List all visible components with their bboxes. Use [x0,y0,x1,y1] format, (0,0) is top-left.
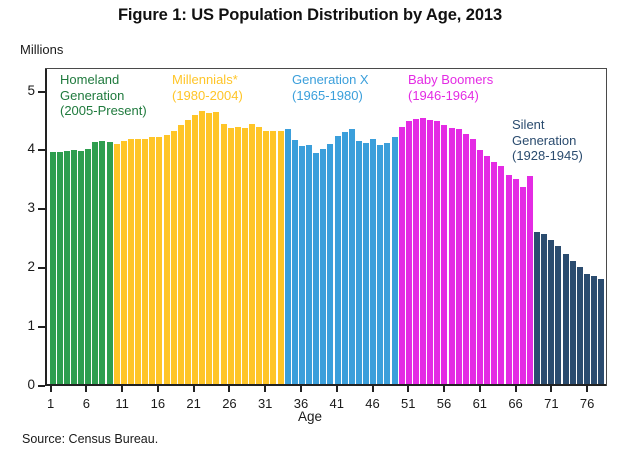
y-tick-label-2: 2 [11,259,35,274]
bar-age-65 [506,175,512,384]
bar-age-77 [591,276,597,384]
x-tick-76 [586,386,588,392]
bar-age-57 [449,128,455,384]
bar-age-68 [527,176,533,384]
x-axis-title: Age [0,409,620,424]
bar-age-51 [406,121,412,384]
bar-age-26 [228,128,234,384]
bar-age-32 [270,131,276,384]
bar-age-14 [142,139,148,384]
bar-age-40 [327,144,333,384]
bar-age-63 [491,162,497,384]
bar-age-17 [164,135,170,384]
bar-age-30 [256,127,262,384]
bar-age-53 [420,118,426,384]
annotation-homeland-generation-line-1: Homeland [60,72,147,88]
bar-age-43 [349,129,355,384]
bar-age-61 [477,150,483,384]
bar-age-22 [199,111,205,384]
bar-age-34 [285,129,291,384]
bar-age-46 [370,139,376,384]
annotation-millennials: Millennials*(1980-2004) [172,72,243,103]
figure-container: Figure 1: US Population Distribution by … [0,0,620,460]
bar-age-42 [342,132,348,384]
annotation-silent-generation-line-3: (1928-1945) [512,148,583,164]
x-tick-41 [336,386,338,392]
x-tick-16 [157,386,159,392]
bar-age-50 [399,127,405,384]
annotation-millennials-line-2: (1980-2004) [172,88,243,104]
y-tick-4 [38,149,45,151]
bar-age-24 [213,112,219,384]
bar-age-70 [541,234,547,384]
bar-age-5 [78,151,84,384]
y-tick-label-4: 4 [11,141,35,156]
source-note: Source: Census Bureau. [22,432,158,446]
bar-age-8 [99,141,105,384]
annotation-generation-x: Generation X(1965-1980) [292,72,369,103]
bar-age-54 [427,120,433,385]
bar-age-29 [249,124,255,384]
annotation-homeland-generation-line-3: (2005-Present) [60,103,147,119]
x-tick-61 [479,386,481,392]
annotation-homeland-generation: HomelandGeneration(2005-Present) [60,72,147,119]
annotation-millennials-line-1: Millennials* [172,72,243,88]
x-tick-6 [85,386,87,392]
bar-age-60 [470,139,476,384]
x-tick-1 [50,386,52,392]
bar-age-21 [192,115,198,384]
bar-age-72 [555,246,561,384]
bar-age-55 [434,121,440,384]
x-tick-71 [550,386,552,392]
bar-age-7 [92,142,98,384]
bar-age-45 [363,143,369,384]
annotation-baby-boomers-line-2: (1946-1964) [408,88,493,104]
bar-age-18 [171,131,177,384]
bar-age-41 [335,136,341,384]
bar-age-35 [292,140,298,384]
y-tick-0 [38,385,45,387]
annotation-generation-x-line-1: Generation X [292,72,369,88]
x-tick-11 [121,386,123,392]
bar-age-9 [107,142,113,384]
annotation-generation-x-line-2: (1965-1980) [292,88,369,104]
y-tick-label-1: 1 [11,318,35,333]
x-tick-46 [372,386,374,392]
bar-age-20 [185,120,191,385]
bar-age-4 [71,150,77,384]
bar-age-76 [584,274,590,384]
bar-age-36 [299,146,305,384]
annotation-silent-generation-line-2: Generation [512,133,583,149]
bar-age-19 [178,125,184,384]
bar-age-74 [570,261,576,384]
bar-age-58 [456,129,462,384]
annotation-baby-boomers: Baby Boomers(1946-1964) [408,72,493,103]
x-tick-56 [443,386,445,392]
bar-age-25 [221,124,227,384]
x-tick-31 [264,386,266,392]
bar-age-67 [520,187,526,384]
annotation-silent-generation-line-1: Silent [512,117,583,133]
bar-age-10 [114,144,120,384]
x-tick-66 [515,386,517,392]
bar-age-23 [206,113,212,384]
y-axis-label: Millions [20,42,63,57]
bar-age-56 [441,125,447,384]
bar-age-37 [306,145,312,384]
bar-age-52 [413,119,419,384]
bar-age-78 [598,279,604,384]
bar-age-16 [156,137,162,384]
figure-title: Figure 1: US Population Distribution by … [0,6,620,25]
bar-age-73 [563,254,569,384]
bar-age-2 [57,152,63,384]
annotation-homeland-generation-line-2: Generation [60,88,147,104]
bar-age-12 [128,139,134,384]
bar-age-38 [313,153,319,384]
bar-age-49 [392,137,398,384]
bar-age-39 [320,149,326,384]
y-tick-label-0: 0 [11,377,35,392]
bar-age-3 [64,151,70,384]
bar-age-69 [534,232,540,384]
bar-age-1 [50,152,56,384]
x-tick-36 [300,386,302,392]
bar-age-75 [577,267,583,384]
y-tick-label-5: 5 [11,83,35,98]
y-tick-label-3: 3 [11,200,35,215]
x-tick-51 [407,386,409,392]
bar-age-6 [85,149,91,384]
bar-age-27 [235,127,241,384]
bar-age-33 [278,131,284,384]
bar-age-44 [356,141,362,384]
y-tick-1 [38,326,45,328]
bar-age-66 [513,179,519,384]
x-tick-21 [193,386,195,392]
bar-age-47 [377,145,383,384]
bar-age-13 [135,139,141,384]
annotation-silent-generation: SilentGeneration(1928-1945) [512,117,583,164]
bar-age-71 [548,240,554,384]
bar-age-64 [498,166,504,384]
bar-age-59 [463,134,469,384]
bar-age-28 [242,128,248,384]
y-tick-2 [38,267,45,269]
bar-age-62 [484,156,490,384]
y-tick-5 [38,91,45,93]
y-tick-3 [38,208,45,210]
bar-age-15 [149,137,155,384]
bar-age-11 [121,141,127,384]
x-tick-26 [228,386,230,392]
bar-age-31 [263,131,269,384]
bar-age-48 [384,143,390,384]
annotation-baby-boomers-line-1: Baby Boomers [408,72,493,88]
